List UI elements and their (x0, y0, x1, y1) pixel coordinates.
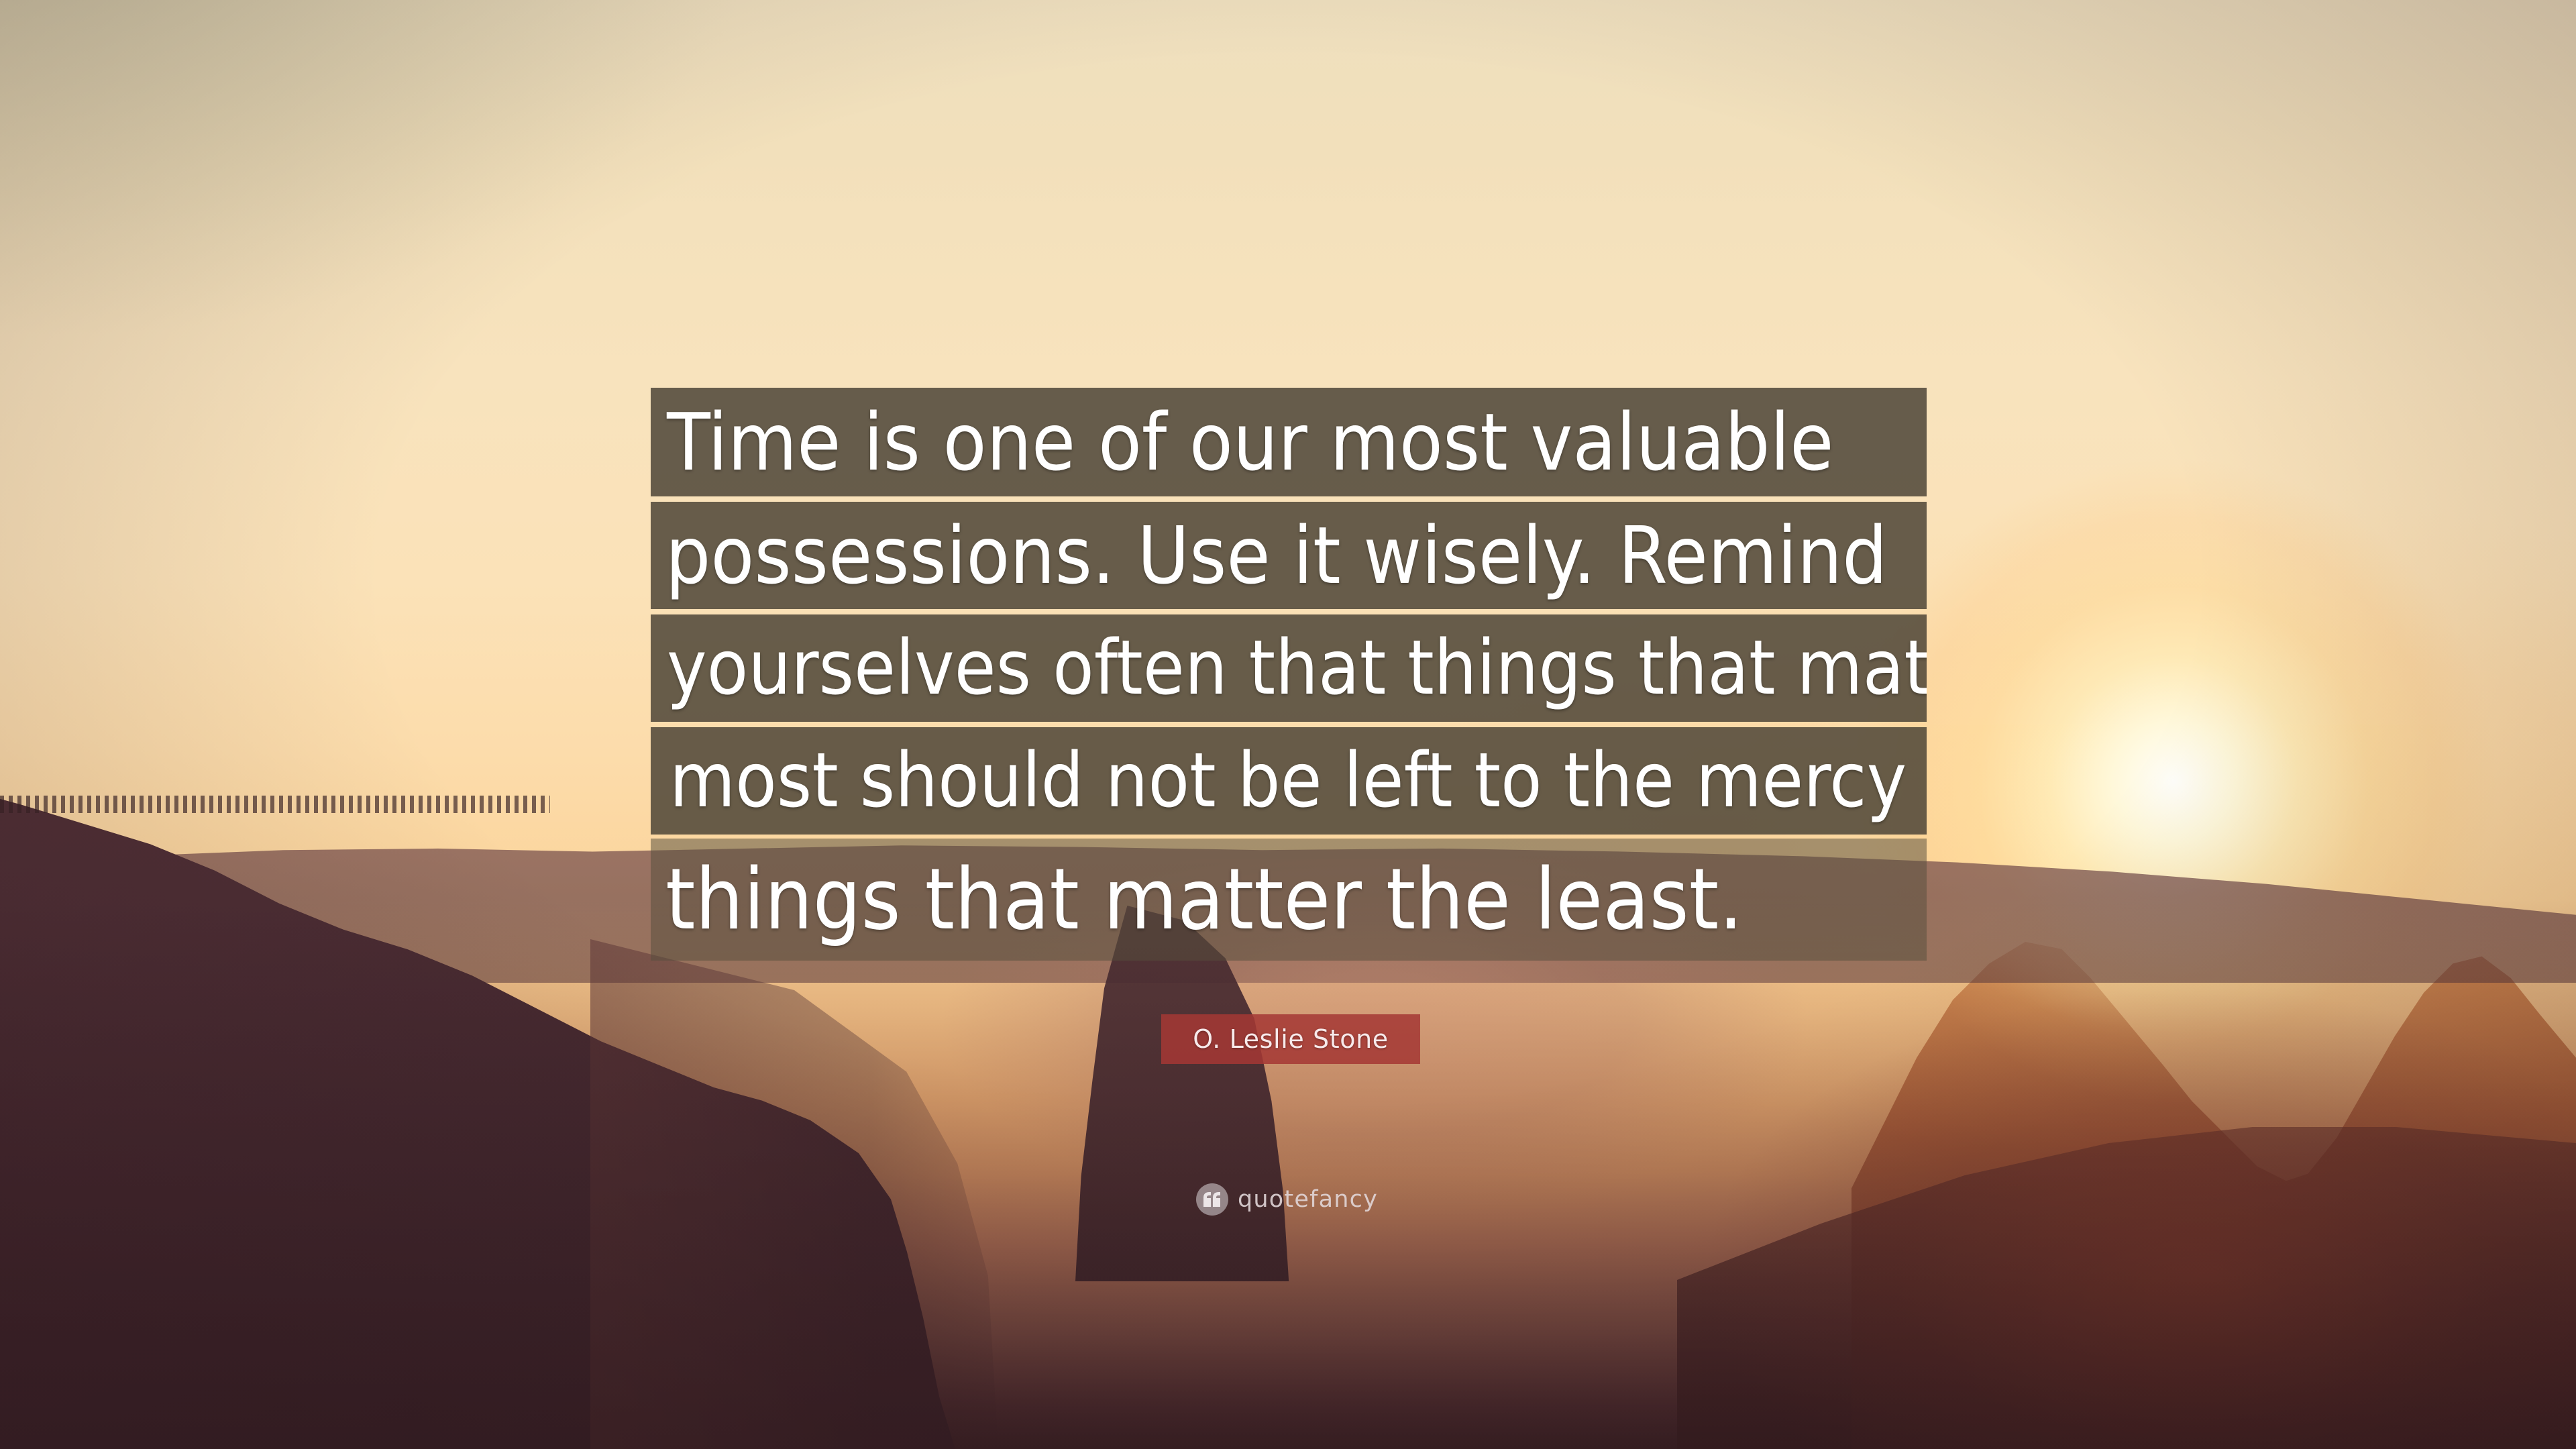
quote-line-4: most should not be left to the mercy of (651, 727, 1927, 835)
quote-line-5-text: things that matter the least. (665, 839, 1912, 961)
quote-wallpaper: Time is one of our most valuable possess… (0, 0, 2576, 1449)
quote-line-4-text: most should not be left to the mercy of (669, 727, 1908, 835)
author-name: O. Leslie Stone (1193, 1024, 1389, 1054)
quote-text-block: Time is one of our most valuable possess… (651, 388, 1927, 961)
quote-line-5: things that matter the least. (651, 839, 1927, 961)
author-badge: O. Leslie Stone (1161, 1014, 1420, 1064)
quote-mark-icon (1196, 1183, 1228, 1216)
quote-line-3: yourselves often that things that matter (651, 614, 1927, 722)
quote-line-1-text: Time is one of our most valuable (667, 388, 1911, 496)
quote-line-2: possessions. Use it wisely. Remind (651, 502, 1927, 609)
quote-line-3-text: yourselves often that things that matter (667, 614, 1911, 722)
quote-line-1: Time is one of our most valuable (651, 388, 1927, 496)
quotefancy-logo[interactable]: quotefancy (1196, 1182, 1378, 1217)
quote-line-2-text: possessions. Use it wisely. Remind (665, 502, 1912, 609)
quotefancy-wordmark: quotefancy (1238, 1186, 1378, 1213)
